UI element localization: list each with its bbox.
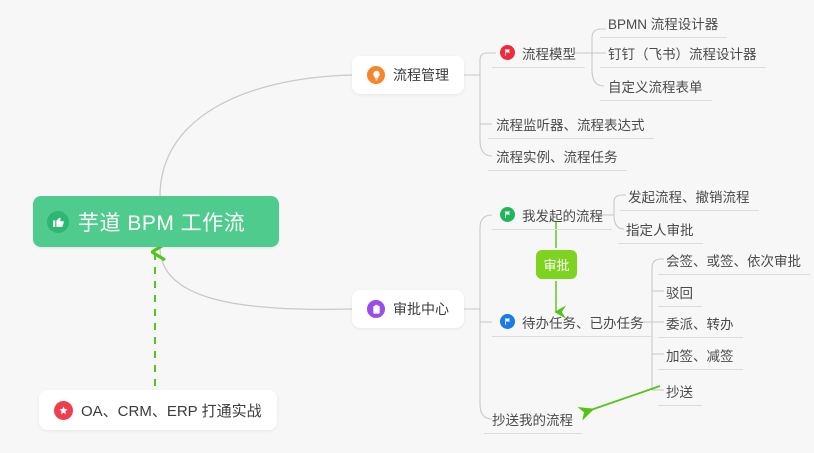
node-my-started-processes[interactable]: 我发起的流程 [492,200,612,230]
node-process-instance[interactable]: 流程实例、流程任务 [488,141,627,171]
node-reject[interactable]: 驳回 [658,277,702,307]
node-label: 待办任务、已办任务 [522,312,644,332]
node-cc[interactable]: 抄送 [658,376,702,406]
node-label: 发起流程、撤销流程 [628,186,750,206]
arrow-cc-to-ccme [585,386,660,412]
node-todo-done-tasks[interactable]: 待办任务、已办任务 [492,307,653,337]
clipboard-icon [367,300,385,318]
node-label: 抄送我的流程 [492,409,573,429]
star-icon [54,401,73,420]
node-label: 委派、转办 [666,313,734,333]
mindmap-canvas: 芋道 BPM 工作流 流程管理 流程模型 BPMN 流程设计器 钉钉（飞书）流程… [0,0,814,453]
node-start-cancel-process[interactable]: 发起流程、撤销流程 [620,181,759,211]
root-label: 芋道 BPM 工作流 [78,207,245,237]
lightbulb-icon [367,66,385,84]
wire-ac-to-mystarted [480,215,492,228]
node-label: 加签、减签 [666,345,734,365]
node-add-remove-sign[interactable]: 加签、减签 [658,340,743,370]
wire-root-to-approval-center [160,247,352,309]
node-countersign[interactable]: 会签、或签、依次审批 [658,245,810,275]
node-label: 流程模型 [522,43,576,63]
node-process-listener[interactable]: 流程监听器、流程表达式 [488,109,654,139]
node-process-management[interactable]: 流程管理 [352,56,464,94]
node-custom-process-form[interactable]: 自定义流程表单 [600,71,712,101]
flag-icon [500,207,515,222]
node-label: 自定义流程表单 [608,76,703,96]
thumbs-up-icon [47,211,69,233]
node-label: 抄送 [666,381,693,401]
node-approval-center[interactable]: 审批中心 [352,290,464,328]
badge-label: 审批 [543,255,569,274]
node-process-model[interactable]: 流程模型 [492,38,585,68]
node-label: 驳回 [666,282,693,302]
node-label: 流程监听器、流程表达式 [496,114,645,134]
node-label: 指定人审批 [626,219,694,239]
node-label: 会签、或签、依次审批 [666,250,801,270]
node-label: 流程管理 [393,65,449,85]
node-label: 钉钉（飞书）流程设计器 [608,43,757,63]
approval-badge[interactable]: 审批 [536,250,577,279]
node-bpmn-designer[interactable]: BPMN 流程设计器 [600,8,727,38]
flag-icon [500,45,515,60]
node-cc-to-me[interactable]: 抄送我的流程 [484,404,582,434]
node-assignee-approval[interactable]: 指定人审批 [618,214,703,244]
node-label: 审批中心 [393,299,449,319]
node-integration-practice[interactable]: OA、CRM、ERP 打通实战 [39,390,277,430]
node-dingtalk-feishu-designer[interactable]: 钉钉（飞书）流程设计器 [600,38,766,68]
root-node[interactable]: 芋道 BPM 工作流 [33,196,279,247]
node-label: 我发起的流程 [522,205,603,225]
node-label: 流程实例、流程任务 [496,146,618,166]
wire-root-to-process-management [160,75,352,196]
node-label: OA、CRM、ERP 打通实战 [81,400,262,421]
node-delegate-transfer[interactable]: 委派、转办 [658,308,743,338]
flag-icon [500,314,515,329]
node-label: BPMN 流程设计器 [608,13,718,33]
